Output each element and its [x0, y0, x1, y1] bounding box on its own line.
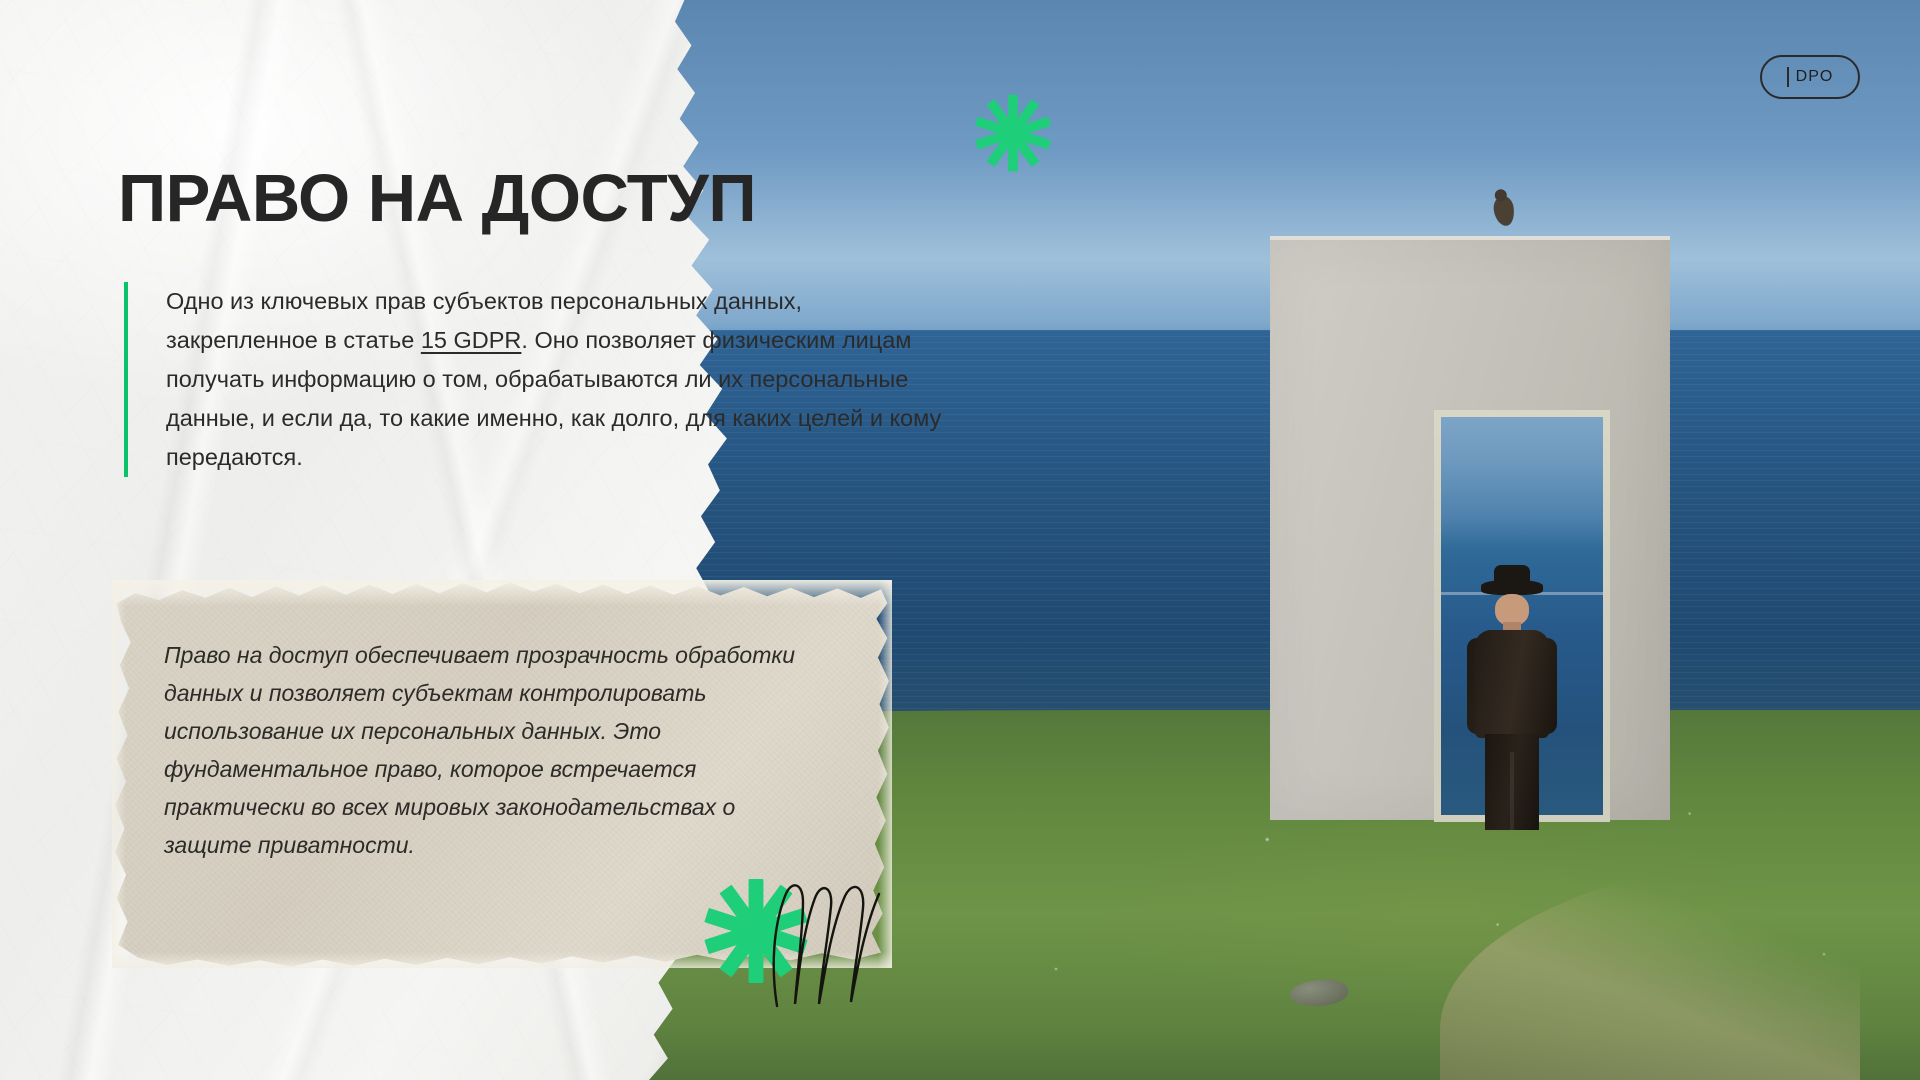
gdpr-article-link[interactable]: 15 GDPR — [421, 327, 522, 353]
intro-paragraph-block: Одно из ключевых прав субъектов персонал… — [124, 282, 954, 477]
figure-torso — [1475, 630, 1549, 738]
figure-legs — [1485, 734, 1539, 830]
badge-label: DPO — [1796, 68, 1834, 86]
page-title: ПРАВО НА ДОСТУП — [118, 160, 756, 237]
bird-icon — [1492, 195, 1516, 227]
intro-paragraph: Одно из ключевых прав субъектов персонал… — [166, 282, 954, 477]
figure-hat — [1481, 580, 1543, 595]
scribble-doodle-icon — [763, 868, 893, 1008]
badge-divider-bar — [1787, 67, 1789, 87]
person-figure — [1453, 580, 1573, 830]
dpo-badge[interactable]: DPO — [1760, 55, 1860, 99]
quote-text: Право на доступ обеспечивает прозрачност… — [164, 636, 824, 864]
slide-root: ПРАВО НА ДОСТУП Одно из ключевых прав су… — [0, 0, 1920, 1080]
asterisk-icon — [973, 93, 1053, 173]
